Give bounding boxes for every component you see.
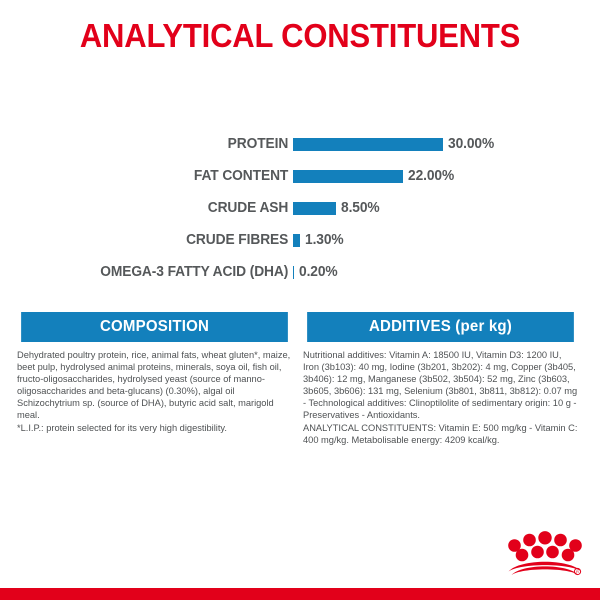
chart-value-crude-fibres: 1.30%	[305, 232, 344, 248]
royal-canin-crown-logo: R	[506, 531, 584, 577]
additives-panel-body: Nutritional additives: Vitamin A: 18500 …	[303, 342, 578, 446]
chart-value-fat-content: 22.00%	[408, 168, 454, 184]
additives-panel-header: ADDITIVES (per kg)	[307, 312, 574, 342]
chart-row: CRUDE FIBRES 1.30%	[0, 224, 600, 256]
chart-row: FAT CONTENT 22.00%	[0, 160, 600, 192]
chart-bar-wrap: 8.50%	[293, 200, 600, 216]
chart-bar-fat-content	[293, 170, 403, 183]
chart-row: OMEGA-3 FATTY ACID (DHA) 0.20%	[0, 256, 600, 288]
chart-bar-wrap: 22.00%	[293, 168, 600, 184]
info-panels: COMPOSITION Dehydrated poultry protein, …	[17, 312, 583, 446]
chart-row: PROTEIN 30.00%	[0, 128, 600, 160]
chart-bar-wrap: 1.30%	[293, 232, 600, 248]
chart-label-omega-3-fatty-acid-dha: OMEGA-3 FATTY ACID (DHA)	[15, 264, 293, 280]
trademark-symbol: R	[576, 569, 579, 574]
chart-bar-wrap: 0.20%	[293, 264, 600, 280]
composition-panel: COMPOSITION Dehydrated poultry protein, …	[17, 312, 292, 446]
chart-label-crude-fibres: CRUDE FIBRES	[15, 232, 293, 248]
page-title: ANALYTICAL CONSTITUENTS	[18, 19, 582, 52]
analytical-constituents-chart: PROTEIN 30.00% FAT CONTENT 22.00% CRUDE …	[0, 128, 600, 288]
chart-value-omega-3-fatty-acid-dha: 0.20%	[299, 264, 338, 280]
chart-label-fat-content: FAT CONTENT	[15, 168, 293, 184]
chart-bar-wrap: 30.00%	[293, 136, 600, 152]
chart-value-crude-ash: 8.50%	[341, 200, 380, 216]
chart-label-crude-ash: CRUDE ASH	[15, 200, 293, 216]
footer-bar	[0, 588, 600, 600]
composition-panel-body: Dehydrated poultry protein, rice, animal…	[17, 342, 292, 434]
chart-bar-omega-3-fatty-acid-dha	[293, 266, 294, 279]
additives-panel: ADDITIVES (per kg) Nutritional additives…	[303, 312, 578, 446]
composition-panel-header: COMPOSITION	[21, 312, 288, 342]
chart-bar-protein	[293, 138, 443, 151]
chart-row: CRUDE ASH 8.50%	[0, 192, 600, 224]
chart-label-protein: PROTEIN	[15, 136, 293, 152]
chart-value-protein: 30.00%	[448, 136, 494, 152]
chart-bar-crude-ash	[293, 202, 336, 215]
chart-bar-crude-fibres	[293, 234, 300, 247]
